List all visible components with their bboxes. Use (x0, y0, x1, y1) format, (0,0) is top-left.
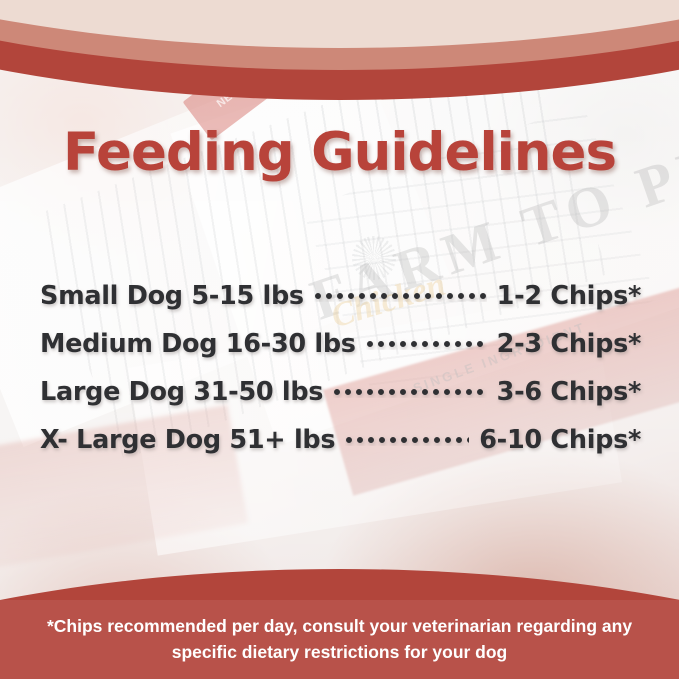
dot-leader (333, 386, 486, 398)
dog-size-label: Large Dog 31-50 lbs (40, 377, 323, 407)
dot-leader (366, 338, 487, 350)
chips-amount: 3-6 Chips* (497, 377, 641, 407)
page-title: Feeding Guidelines (0, 122, 679, 183)
chips-amount: 1-2 Chips* (497, 281, 641, 311)
footer-note-text: *Chips recommended per day, consult your… (0, 614, 679, 665)
table-row: Medium Dog 16-30 lbs 2-3 Chips* (40, 329, 641, 377)
table-row: X- Large Dog 51+ lbs 6-10 Chips* (40, 425, 641, 473)
table-row: Large Dog 31-50 lbs 3-6 Chips* (40, 377, 641, 425)
chips-amount: 2-3 Chips* (497, 329, 641, 359)
dog-size-label: X- Large Dog 51+ lbs (40, 425, 335, 455)
chips-amount: 6-10 Chips* (479, 425, 641, 455)
dot-leader (345, 434, 469, 446)
dog-size-label: Medium Dog 16-30 lbs (40, 329, 356, 359)
table-row: Small Dog 5-15 lbs 1-2 Chips* (40, 281, 641, 329)
card-content: Feeding Guidelines Small Dog 5-15 lbs 1-… (0, 0, 679, 679)
feeding-guidelines-card: NEW Value Bag FARM TO PET Chicken SINGLE… (0, 0, 679, 679)
dog-size-label: Small Dog 5-15 lbs (40, 281, 304, 311)
feeding-table: Small Dog 5-15 lbs 1-2 Chips* Medium Dog… (40, 281, 641, 473)
footer-note-band: *Chips recommended per day, consult your… (0, 600, 679, 679)
dot-leader (314, 290, 487, 302)
